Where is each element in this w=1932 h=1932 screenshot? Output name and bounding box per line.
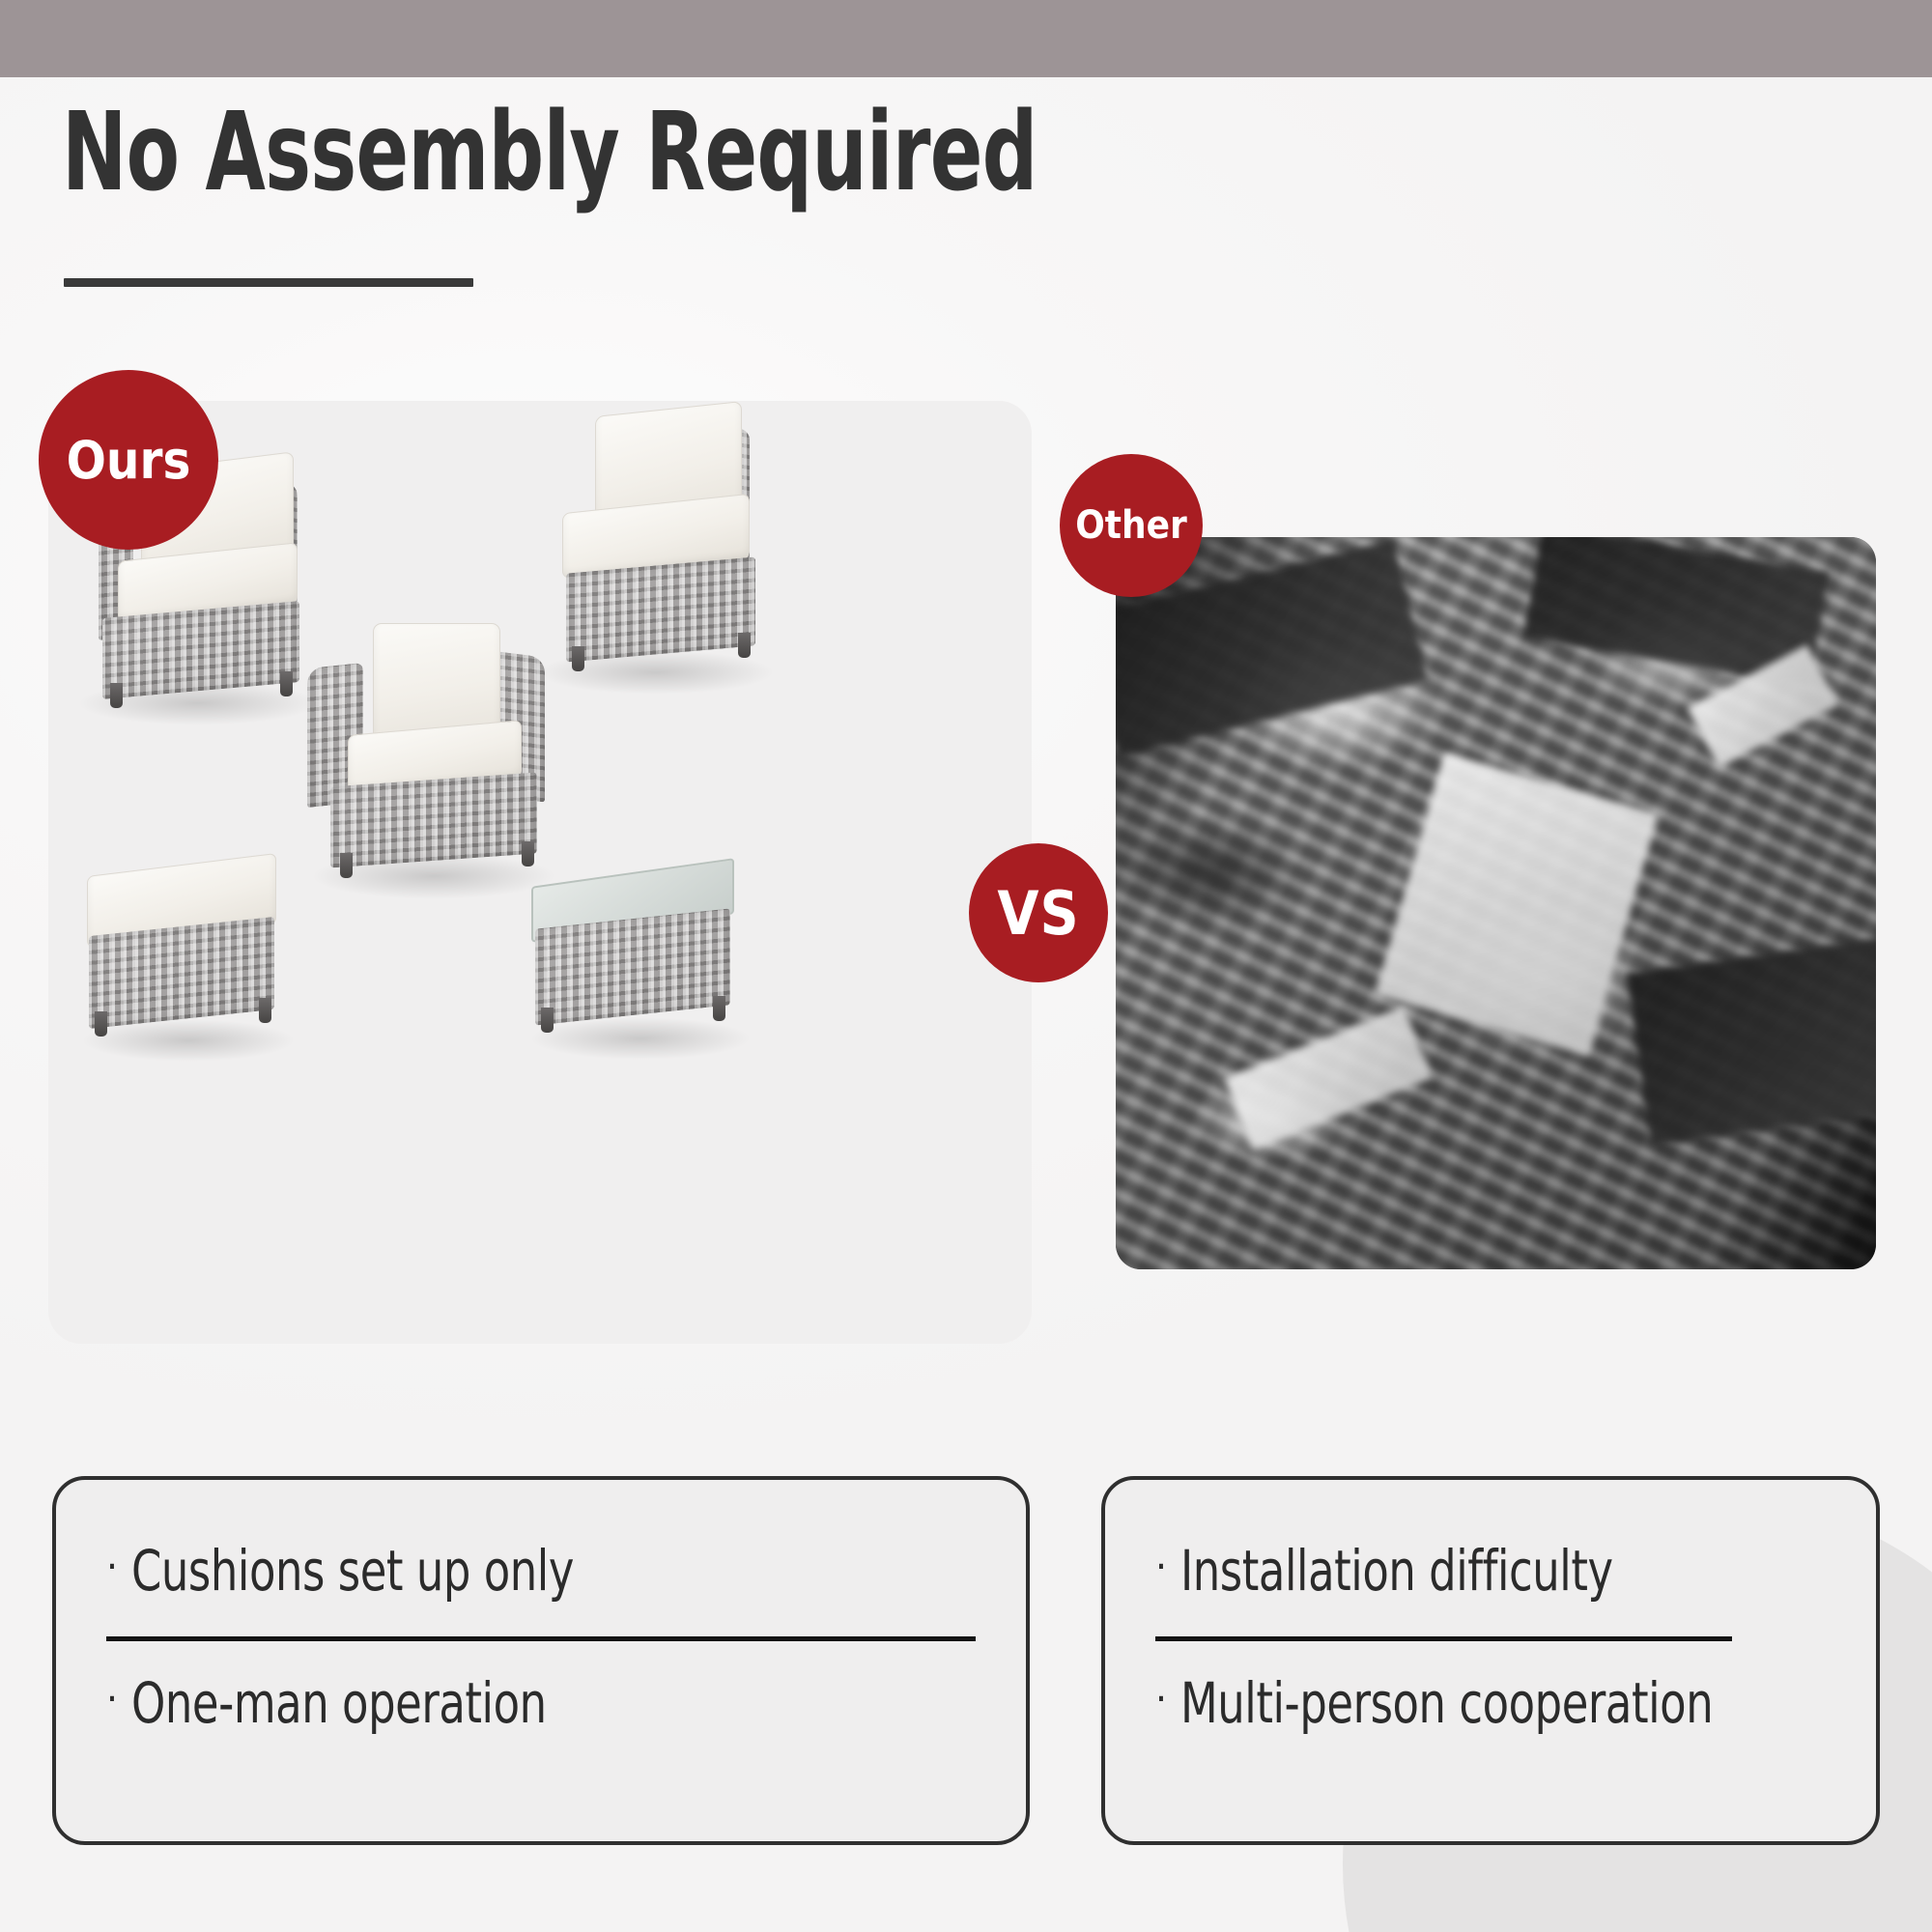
other-bullet-1: · Installation difficulty [1155,1538,1826,1604]
ours-badge: Ours [39,370,218,550]
ours-bullet-1: · Cushions set up only [106,1538,976,1604]
product-ottoman [73,865,305,1058]
product-coffee-table [522,872,761,1056]
other-badge: Other [1060,454,1203,597]
ours-product-panel [48,401,1032,1344]
bullet-marker: · [1155,1679,1167,1719]
page-title: No Assembly Required [62,95,1037,212]
top-color-bar [0,0,1932,77]
feature-divider [1155,1636,1732,1641]
ours-badge-label: Ours [67,430,191,491]
bullet-marker: · [106,1547,118,1587]
bullet-marker: · [106,1679,118,1719]
other-bullet-2: · Multi-person cooperation [1155,1670,1826,1736]
other-feature-box: · Installation difficulty · Multi-person… [1101,1476,1880,1845]
bullet-text: Multi-person cooperation [1180,1670,1713,1736]
ours-bullet-2: · One-man operation [106,1670,976,1736]
vs-badge: VS [969,843,1108,982]
product-armchair-center [298,606,570,894]
bullet-text: One-man operation [131,1670,547,1736]
infographic-canvas: No Assembly Required [0,0,1932,1932]
other-badge-label: Other [1075,503,1187,548]
title-underline [64,278,473,287]
vs-badge-label: VS [997,878,1079,949]
bullet-text: Cushions set up only [131,1538,574,1604]
ours-feature-box: · Cushions set up only · One-man operati… [52,1476,1030,1845]
feature-divider [106,1636,976,1641]
other-product-panel [1116,537,1876,1269]
bullet-marker: · [1155,1547,1167,1587]
bullet-text: Installation difficulty [1180,1538,1613,1604]
